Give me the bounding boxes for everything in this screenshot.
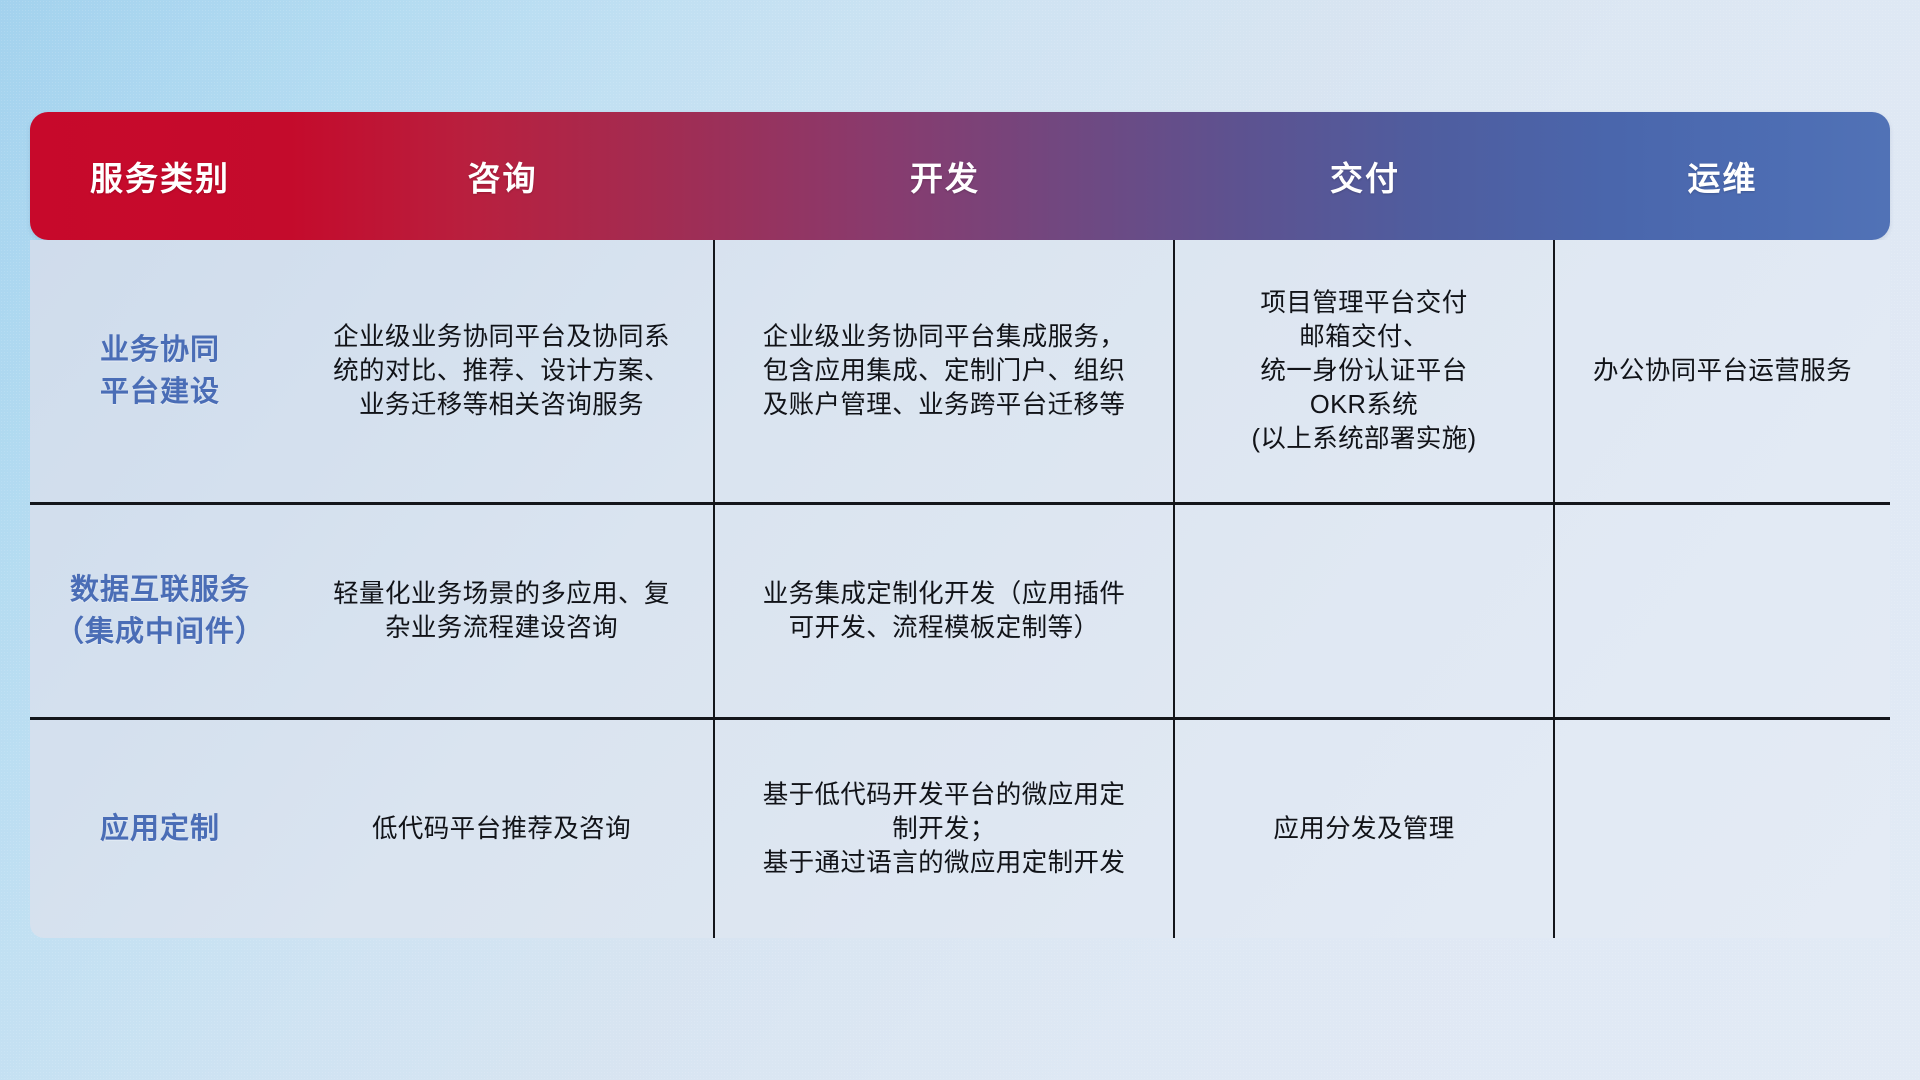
cell-text: 办公协同平台运营服务 [1593,354,1852,388]
row-label-cell: 数据互联服务 （集成中间件） [30,505,290,717]
table-row: 数据互联服务 （集成中间件） 轻量化业务场景的多应用、复 杂业务流程建设咨询 业… [30,505,1890,720]
cell-delivery: 项目管理平台交付 邮箱交付、 统一身份认证平台 OKR系统 (以上系统部署实施) [1175,240,1555,502]
row-label-cell: 应用定制 [30,720,290,938]
cell-operations [1555,720,1890,938]
table-row: 应用定制 低代码平台推荐及咨询 基于低代码开发平台的微应用定 制开发； 基于通过… [30,720,1890,938]
table-row: 业务协同 平台建设 企业级业务协同平台及协同系 统的对比、推荐、设计方案、 业务… [30,240,1890,505]
cell-operations [1555,505,1890,717]
cell-delivery: 应用分发及管理 [1175,720,1555,938]
cell-consulting: 低代码平台推荐及咨询 [290,720,715,938]
column-header-operations: 运维 [1555,112,1890,240]
service-matrix-table: 服务类别 咨询 开发 交付 运维 业务协同 平台建设 企业级业务协同平台及协同系… [30,112,1890,938]
column-header-development: 开发 [715,112,1175,240]
cell-delivery [1175,505,1555,717]
cell-text: 应用分发及管理 [1273,812,1454,846]
cell-development: 业务集成定制化开发（应用插件 可开发、流程模板定制等） [715,505,1175,717]
column-header-delivery: 交付 [1175,112,1555,240]
column-header-consulting: 咨询 [290,112,715,240]
row-label-text: 业务协同 平台建设 [100,329,220,413]
cell-text: 基于低代码开发平台的微应用定 制开发； 基于通过语言的微应用定制开发 [763,778,1126,880]
table-body: 业务协同 平台建设 企业级业务协同平台及协同系 统的对比、推荐、设计方案、 业务… [30,240,1890,938]
cell-text: 企业级业务协同平台及协同系 统的对比、推荐、设计方案、 业务迁移等相关咨询服务 [333,320,670,422]
cell-text: 轻量化业务场景的多应用、复 杂业务流程建设咨询 [333,577,670,645]
row-label-text: 应用定制 [100,808,220,850]
cell-consulting: 轻量化业务场景的多应用、复 杂业务流程建设咨询 [290,505,715,717]
table-header-row: 服务类别 咨询 开发 交付 运维 [30,112,1890,240]
cell-text: 低代码平台推荐及咨询 [372,812,631,846]
cell-development: 企业级业务协同平台集成服务， 包含应用集成、定制门户、组织 及账户管理、业务跨平… [715,240,1175,502]
cell-operations: 办公协同平台运营服务 [1555,240,1890,502]
column-header-service-category: 服务类别 [30,112,290,240]
row-label-text: 数据互联服务 （集成中间件） [55,569,265,653]
cell-text: 企业级业务协同平台集成服务， 包含应用集成、定制门户、组织 及账户管理、业务跨平… [763,320,1126,422]
row-label-cell: 业务协同 平台建设 [30,240,290,502]
cell-text: 项目管理平台交付 邮箱交付、 统一身份认证平台 OKR系统 (以上系统部署实施) [1252,286,1477,457]
cell-text: 业务集成定制化开发（应用插件 可开发、流程模板定制等） [763,577,1126,645]
cell-consulting: 企业级业务协同平台及协同系 统的对比、推荐、设计方案、 业务迁移等相关咨询服务 [290,240,715,502]
cell-development: 基于低代码开发平台的微应用定 制开发； 基于通过语言的微应用定制开发 [715,720,1175,938]
